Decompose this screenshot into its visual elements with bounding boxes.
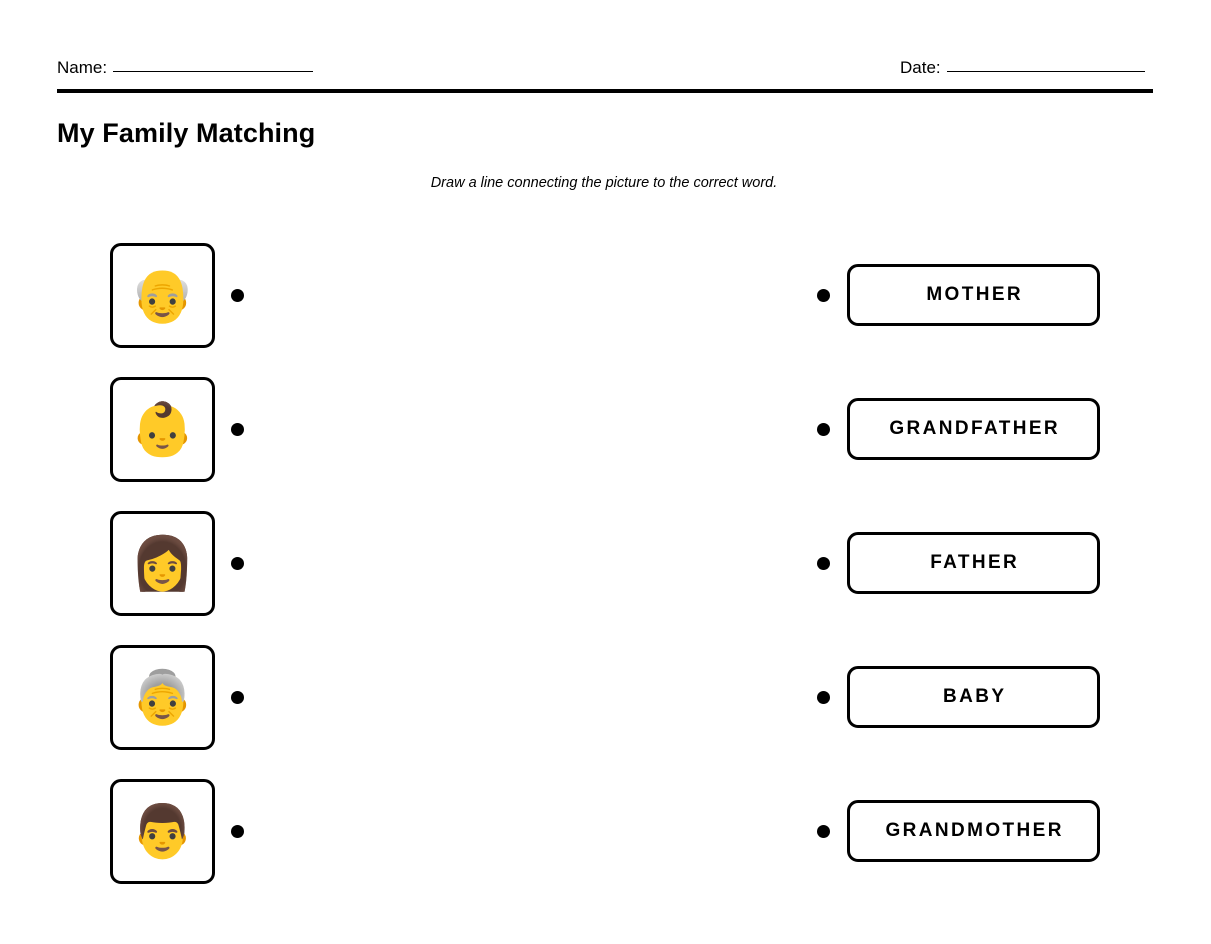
connector-dot-right[interactable] xyxy=(817,557,830,570)
word-label: GRANDFATHER xyxy=(887,418,1060,440)
word-box[interactable]: GRANDFATHER xyxy=(847,398,1100,460)
match-row: 👶 GRANDFATHER xyxy=(0,377,1211,482)
old-woman-emoji: 👵 xyxy=(130,672,195,724)
word-box[interactable]: GRANDMOTHER xyxy=(847,800,1100,862)
connector-dot-right[interactable] xyxy=(817,289,830,302)
picture-card[interactable]: 👨 xyxy=(110,779,215,884)
woman-emoji: 👩 xyxy=(130,538,195,590)
match-row: 👩 FATHER xyxy=(0,511,1211,616)
match-row: 👵 BABY xyxy=(0,645,1211,750)
old-man-emoji: 👴 xyxy=(130,270,195,322)
word-box[interactable]: MOTHER xyxy=(847,264,1100,326)
connector-dot-right[interactable] xyxy=(817,691,830,704)
picture-card[interactable]: 👴 xyxy=(110,243,215,348)
match-row: 👨 GRANDMOTHER xyxy=(0,779,1211,884)
connector-dot-right[interactable] xyxy=(817,825,830,838)
picture-card[interactable]: 👩 xyxy=(110,511,215,616)
picture-card[interactable]: 👶 xyxy=(110,377,215,482)
picture-card[interactable]: 👵 xyxy=(110,645,215,750)
word-box[interactable]: BABY xyxy=(847,666,1100,728)
word-label: MOTHER xyxy=(924,284,1023,306)
connector-dot-right[interactable] xyxy=(817,423,830,436)
worksheet-page: Name: Date: My Family Matching Draw a li… xyxy=(0,0,1211,944)
word-label: GRANDMOTHER xyxy=(883,820,1064,842)
word-box[interactable]: FATHER xyxy=(847,532,1100,594)
word-label: BABY xyxy=(941,686,1007,708)
match-row: 👴 MOTHER xyxy=(0,243,1211,348)
connector-dot-left[interactable] xyxy=(231,557,244,570)
connector-dot-left[interactable] xyxy=(231,423,244,436)
connector-dot-left[interactable] xyxy=(231,691,244,704)
matching-area: 👴 MOTHER 👶 GRANDFATHER 👩 xyxy=(0,0,1211,944)
baby-emoji: 👶 xyxy=(130,404,195,456)
connector-dot-left[interactable] xyxy=(231,289,244,302)
connector-dot-left[interactable] xyxy=(231,825,244,838)
man-emoji: 👨 xyxy=(130,806,195,858)
word-label: FATHER xyxy=(928,552,1019,574)
